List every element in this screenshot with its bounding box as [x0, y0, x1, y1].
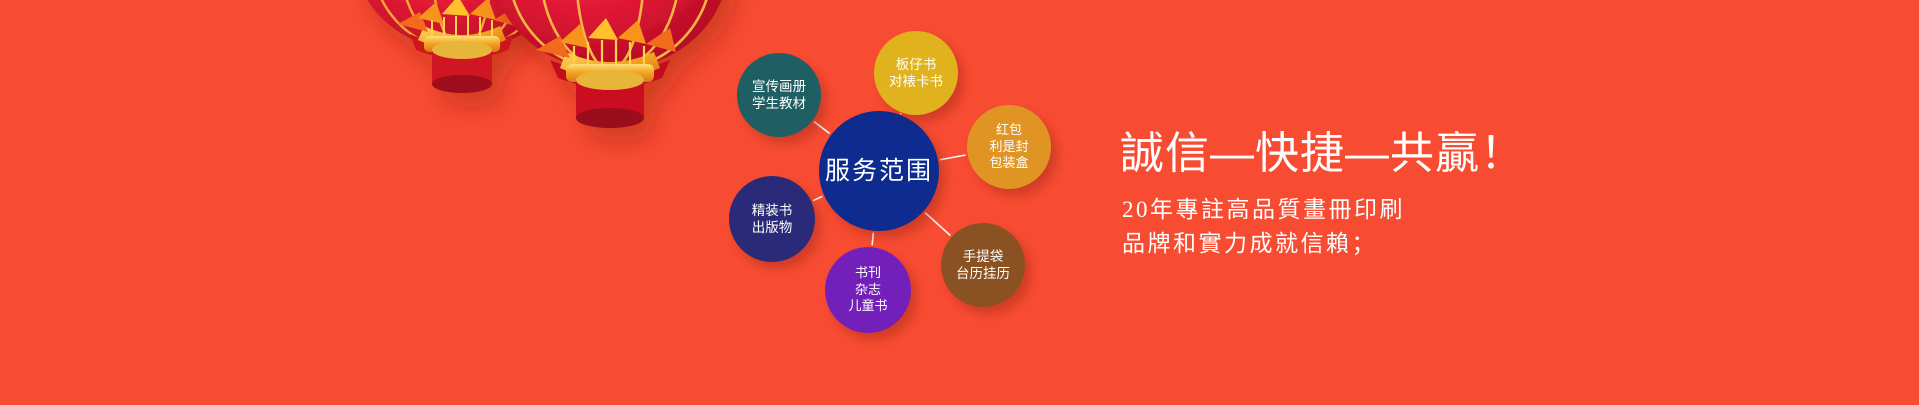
- center-node-label: 服务范围: [825, 155, 933, 187]
- node-label-line: 宣传画册: [752, 78, 806, 95]
- connector-2: [940, 155, 966, 160]
- subline-experience: 20年專註高品質畫冊印刷: [1122, 190, 1405, 224]
- node-label-line: 儿童书: [848, 298, 887, 315]
- node-label-line: 台历挂历: [956, 265, 1010, 282]
- diagram-connectors: [0, 0, 1919, 405]
- node-label-line: 利是封: [989, 139, 1028, 156]
- diagram-center-node[interactable]: 服务范围: [819, 111, 939, 231]
- node-label-line: 板仔书: [896, 56, 937, 73]
- node-journal-magazine[interactable]: 书刊 杂志 儿童书: [825, 247, 911, 333]
- connector-3: [925, 213, 950, 236]
- node-brochure-textbook[interactable]: 宣传画册 学生教材: [737, 53, 821, 137]
- node-label-line: 学生教材: [752, 95, 806, 112]
- headline-slogan: 誠信—快捷—共贏！: [1120, 117, 1525, 181]
- subline-trust: 品牌和實力成就信賴；: [1122, 224, 1377, 258]
- connector-0: [814, 122, 830, 134]
- node-hardcover-publication[interactable]: 精装书 出版物: [729, 176, 815, 262]
- node-label-line: 出版物: [752, 219, 793, 236]
- node-red-envelope[interactable]: 红包 利是封 包装盒: [967, 105, 1051, 189]
- node-label-line: 对裱卡书: [889, 73, 943, 90]
- connector-4: [872, 233, 873, 245]
- node-label-line: 手提袋: [963, 248, 1004, 265]
- node-label-line: 包装盒: [989, 155, 1028, 172]
- node-board-book[interactable]: 板仔书 对裱卡书: [874, 31, 958, 115]
- node-label-line: 杂志: [855, 282, 881, 299]
- service-scope-diagram: 服务范围 宣传画册 学生教材 板仔书 对裱卡书 红包 利是封 包装盒 手提袋 台…: [0, 0, 1919, 405]
- node-label-line: 精装书: [752, 202, 793, 219]
- promo-banner: 服务范围 宣传画册 学生教材 板仔书 对裱卡书 红包 利是封 包装盒 手提袋 台…: [0, 0, 1919, 405]
- node-handbag-calendar[interactable]: 手提袋 台历挂历: [941, 223, 1025, 307]
- node-label-line: 红包: [996, 122, 1022, 139]
- node-label-line: 书刊: [855, 265, 881, 282]
- connector-5: [813, 196, 822, 200]
